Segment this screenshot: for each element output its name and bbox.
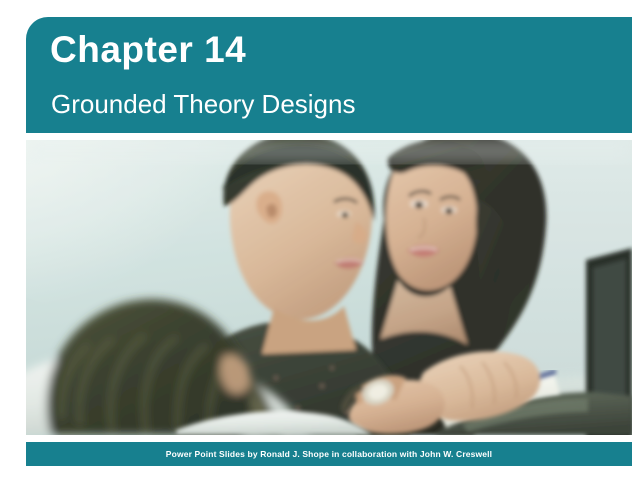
presentation-slide: Chapter 14 Grounded Theory Designs [0, 0, 640, 480]
photo-illustration [26, 140, 632, 435]
slide-subtitle: Grounded Theory Designs [51, 91, 355, 117]
page-title: Chapter 14 [50, 31, 246, 68]
slide-footer-bar: Power Point Slides by Ronald J. Shope in… [26, 442, 632, 466]
slide-header-banner: Chapter 14 Grounded Theory Designs [26, 17, 632, 133]
footer-credit-text: Power Point Slides by Ronald J. Shope in… [166, 449, 492, 459]
slide-photo [26, 140, 632, 435]
